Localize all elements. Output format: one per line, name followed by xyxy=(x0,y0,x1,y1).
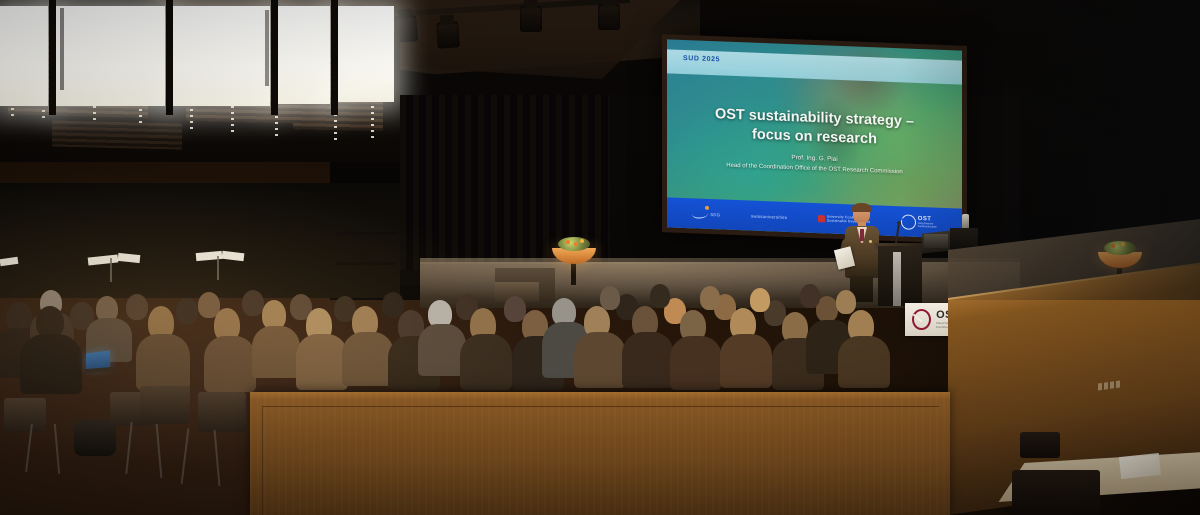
slide-event-tag: SUD 2025 xyxy=(683,55,720,63)
audience-head xyxy=(176,298,198,324)
audience-shoulders xyxy=(720,334,772,388)
window-pane xyxy=(172,6,270,106)
red-square-icon xyxy=(818,215,825,222)
audience-shoulders xyxy=(418,324,466,376)
window-mullion xyxy=(336,262,396,265)
flower-bloom xyxy=(574,242,578,246)
chair-back xyxy=(4,398,46,432)
presenter-laptop-screen xyxy=(924,234,948,248)
window-mullion xyxy=(271,0,278,115)
audience-shoulders xyxy=(670,336,722,390)
audience-shoulders xyxy=(252,326,300,378)
spotlight-icon xyxy=(598,4,620,30)
backpack xyxy=(74,420,116,456)
spotlight-icon xyxy=(436,21,460,48)
window-mullion xyxy=(166,0,173,115)
side-chair xyxy=(1012,470,1100,515)
wall-switch[interactable] xyxy=(1098,383,1102,391)
audience-head xyxy=(242,290,264,316)
ost-logo-sub2: Fachhochschule xyxy=(918,225,937,229)
audience-head xyxy=(836,290,856,314)
audience-head xyxy=(700,286,720,310)
audience-head xyxy=(800,284,820,308)
speaker-tie xyxy=(860,229,864,241)
ost-ring-icon xyxy=(901,214,916,230)
flower-bloom xyxy=(1121,242,1125,246)
side-chair xyxy=(1020,432,1060,458)
slat-panel xyxy=(52,120,182,149)
window-mullion xyxy=(49,0,56,115)
audience-shoulders xyxy=(20,334,82,394)
table-papers xyxy=(1119,453,1161,479)
audience-shoulders xyxy=(838,336,890,388)
ost-logo: OST Ostschweizer Fachhochschule xyxy=(901,214,937,230)
chair-back xyxy=(198,392,246,432)
audience-head xyxy=(126,294,148,320)
balustrade-inset-line xyxy=(262,406,939,515)
flower-bloom xyxy=(580,239,584,243)
window-mullion xyxy=(265,10,269,86)
auditorium-photo: SUD 2025 OST sustainability strategy – f… xyxy=(0,0,1200,515)
swissuniversities-logo: swissuniversities xyxy=(751,213,787,219)
audience-shoulders xyxy=(622,332,674,388)
audience-head xyxy=(750,288,770,312)
window-pane xyxy=(55,6,165,106)
flower-bloom xyxy=(1111,244,1115,248)
flower-bloom xyxy=(566,240,570,244)
sdg-swoosh-logo: SDG xyxy=(692,208,720,219)
audience-shoulders xyxy=(136,334,190,390)
window-pane xyxy=(336,6,394,102)
audience-shoulders xyxy=(574,332,626,388)
audience-shoulders xyxy=(342,332,394,386)
window-mullion xyxy=(336,232,396,235)
audience-shoulders xyxy=(460,334,512,390)
wall-switch[interactable] xyxy=(1104,382,1108,390)
wall-switch[interactable] xyxy=(1110,381,1114,389)
window-mullion xyxy=(331,0,338,115)
projection-screen[interactable]: SUD 2025 OST sustainability strategy – f… xyxy=(667,39,962,238)
swissuniversities-label: swissuniversities xyxy=(751,213,787,219)
window-mullion xyxy=(60,8,64,90)
chair-back xyxy=(140,386,190,424)
window-pane xyxy=(0,6,48,106)
audience-shoulders xyxy=(296,334,348,390)
sdg-logo-label: SDG xyxy=(710,211,720,216)
window-pane xyxy=(278,6,330,104)
speaker-lapel-pin xyxy=(869,240,872,243)
wall-switch[interactable] xyxy=(1116,380,1120,388)
audience-shoulders xyxy=(204,336,256,392)
speaker-hair xyxy=(852,203,871,212)
projection-screen-frame: SUD 2025 OST sustainability strategy – f… xyxy=(662,34,967,244)
slide-title-line2: focus on research xyxy=(752,126,877,147)
spotlight-icon xyxy=(520,6,542,32)
flower-foliage xyxy=(1104,241,1136,255)
swoosh-icon xyxy=(692,208,708,219)
audience-head xyxy=(650,284,670,308)
audience-head xyxy=(600,286,620,310)
